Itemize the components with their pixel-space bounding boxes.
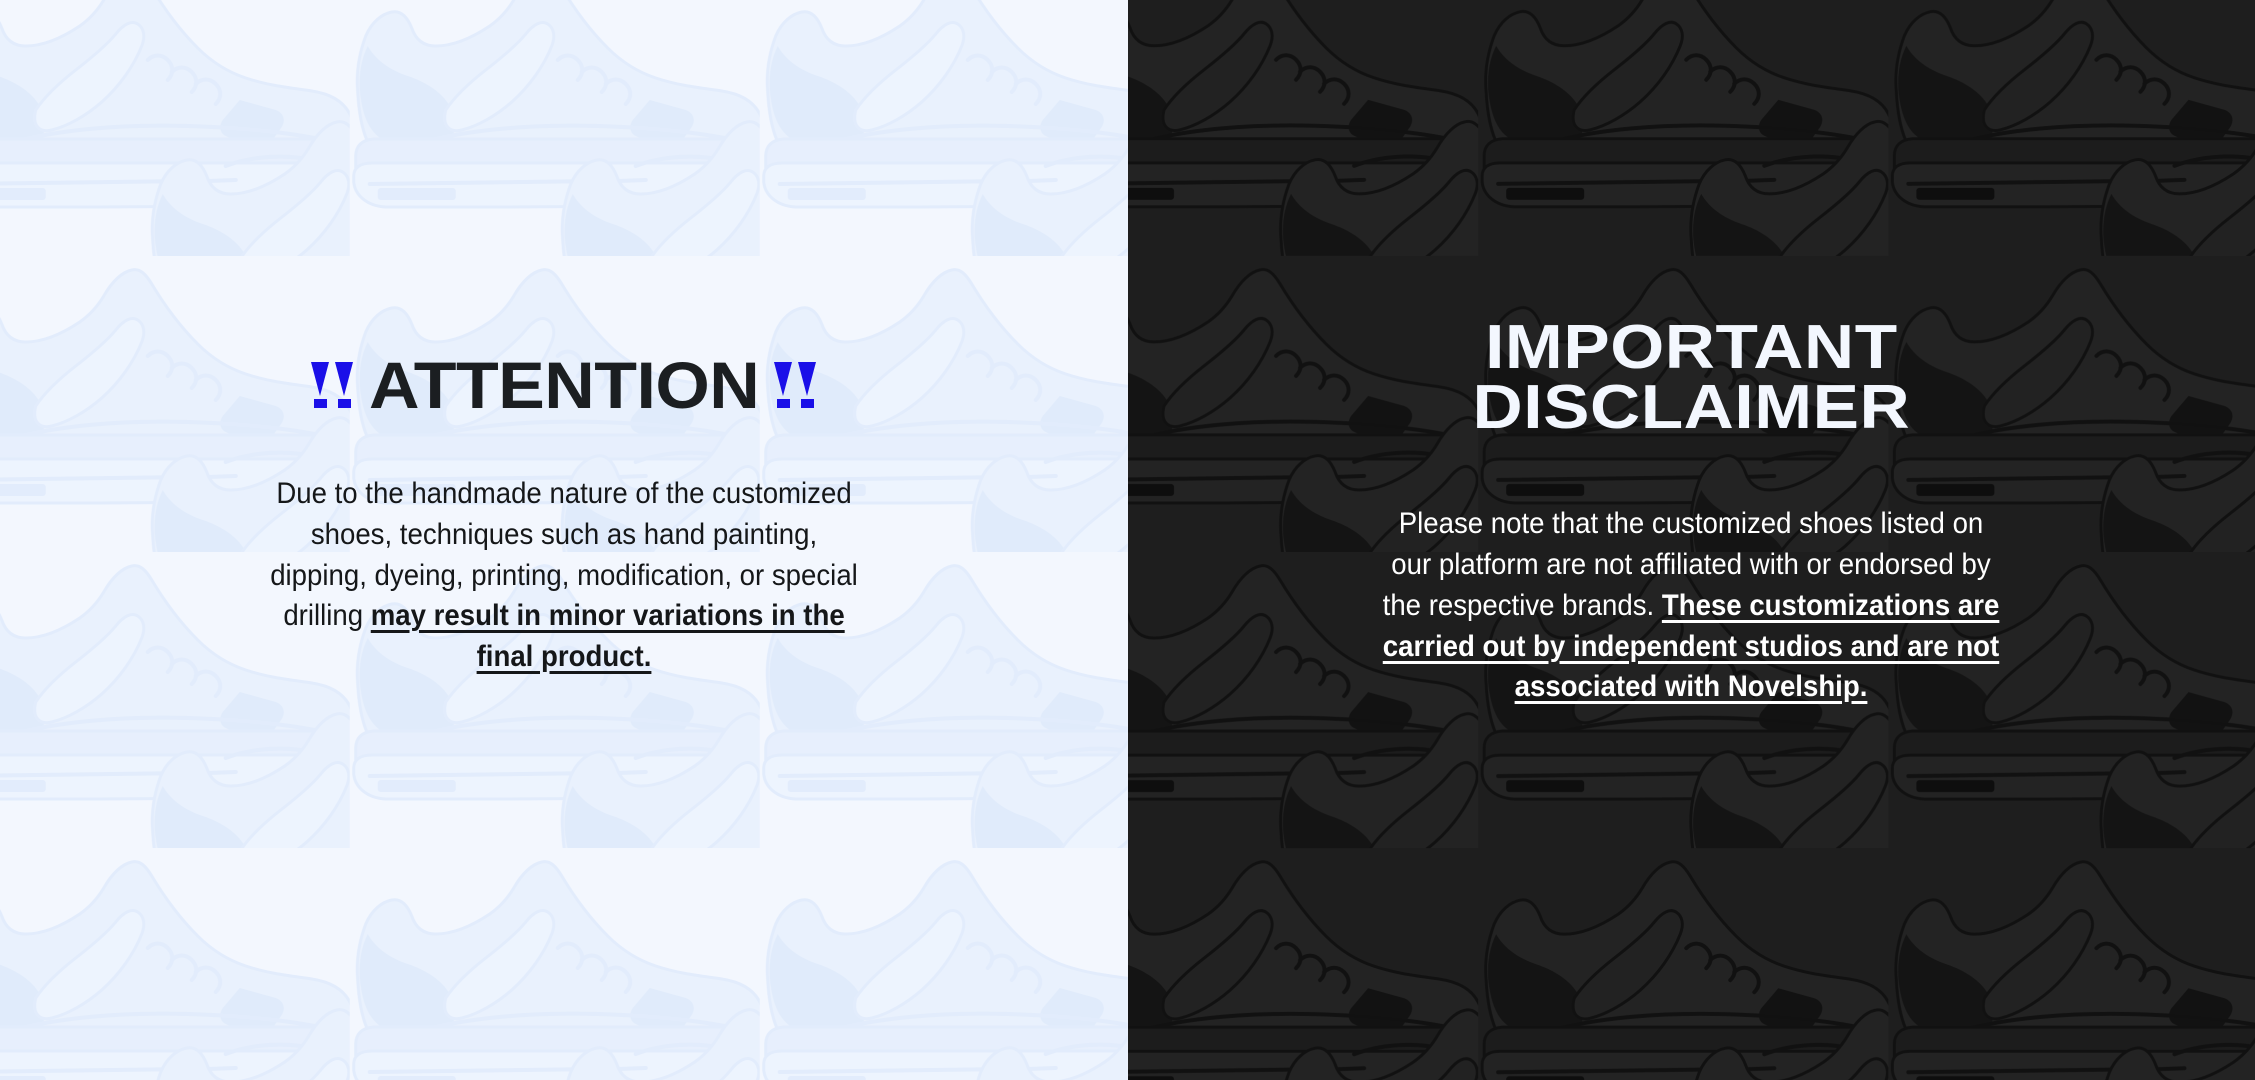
- dual-panel-notice: ATTENTION Due to the handmade nature of …: [0, 0, 2255, 1080]
- double-exclamation-icon-right: [774, 362, 817, 408]
- disclaimer-heading-line-2: DISCLAIMER: [1472, 373, 1910, 442]
- disclaimer-heading-line-1: IMPORTANT: [1485, 313, 1898, 382]
- attention-body-emphasis: may result in minor variations in the fi…: [371, 599, 845, 673]
- disclaimer-content: IMPORTANT DISCLAIMER Please note that th…: [1128, 0, 2255, 738]
- disclaimer-body: Please note that the customized shoes li…: [1378, 504, 2004, 708]
- attention-panel: ATTENTION Due to the handmade nature of …: [0, 0, 1128, 1080]
- disclaimer-panel: IMPORTANT DISCLAIMER Please note that th…: [1128, 0, 2255, 1080]
- double-exclamation-icon-left: [311, 362, 354, 408]
- disclaimer-heading: IMPORTANT DISCLAIMER: [1472, 318, 1910, 438]
- attention-heading-text: ATTENTION: [369, 352, 759, 418]
- attention-body: Due to the handmade nature of the custom…: [260, 474, 867, 678]
- attention-heading: ATTENTION: [311, 352, 817, 418]
- attention-content: ATTENTION Due to the handmade nature of …: [0, 0, 1128, 708]
